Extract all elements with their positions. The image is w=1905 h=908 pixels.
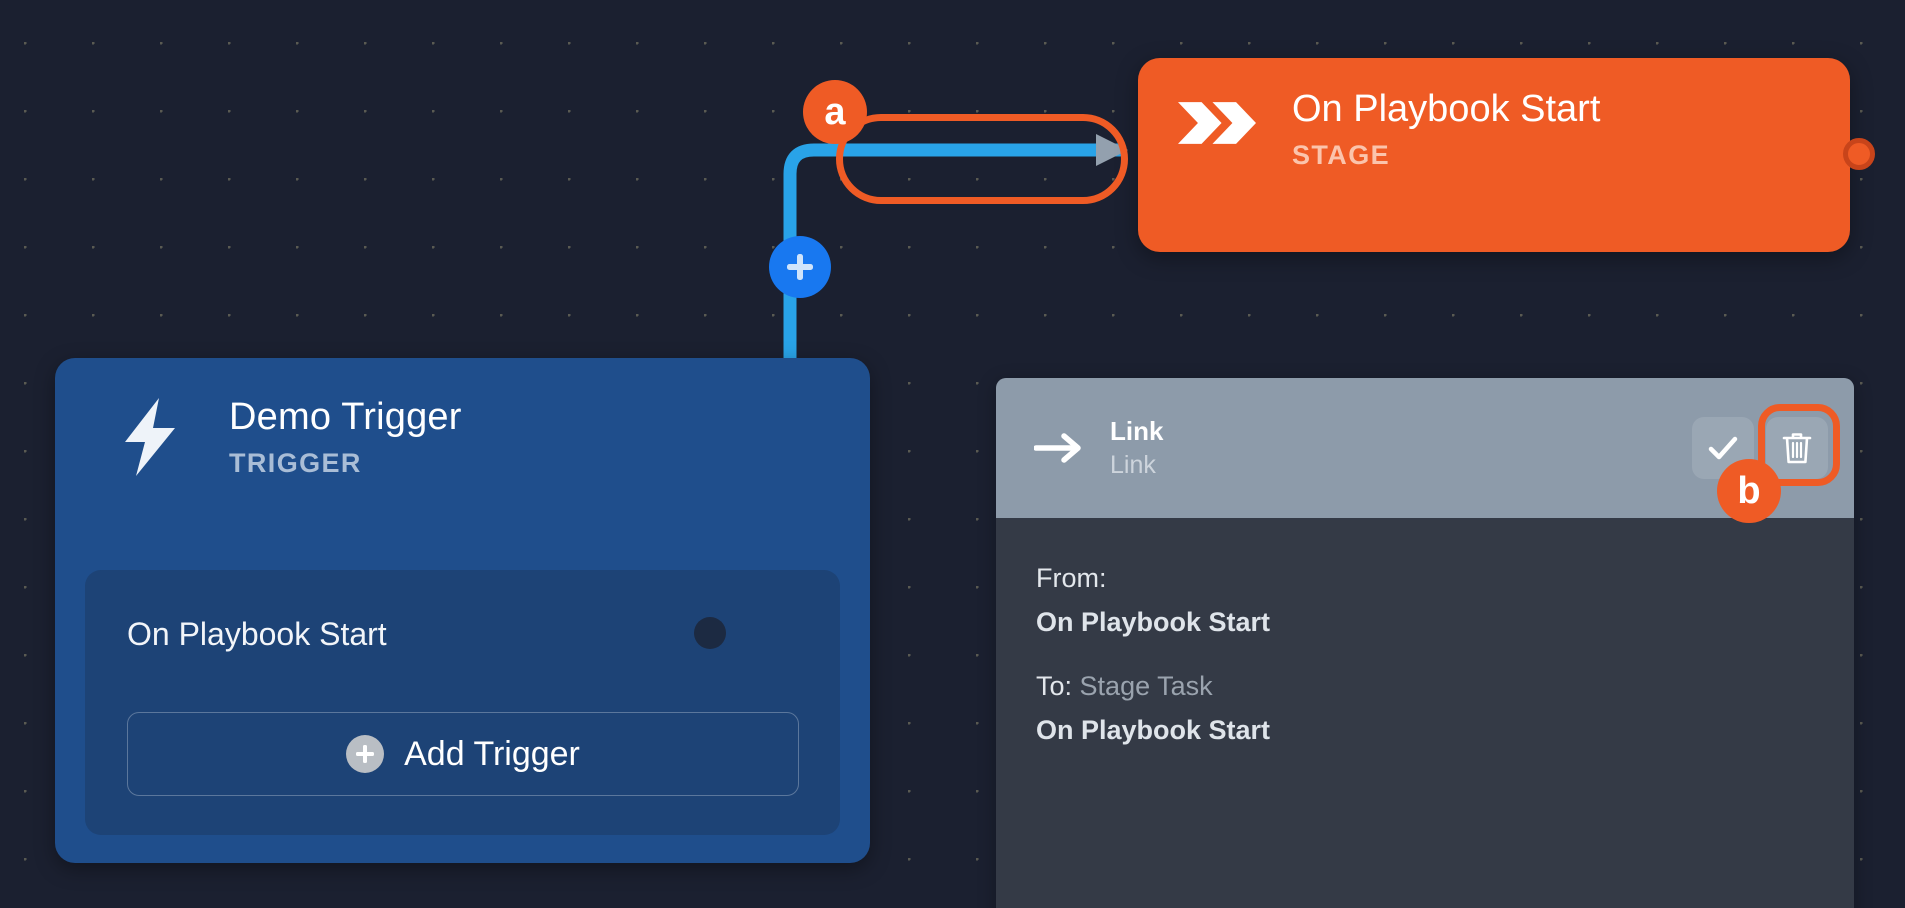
double-chevron-right-icon — [1178, 84, 1256, 162]
workflow-canvas[interactable]: a Demo Trigger TRIGGER On Playbook Start — [0, 0, 1905, 908]
trigger-item-on-playbook-start[interactable]: On Playbook Start — [127, 614, 387, 654]
stage-node[interactable]: On Playbook Start STAGE — [1138, 58, 1850, 252]
link-to-label: To: — [1036, 671, 1072, 701]
trigger-node[interactable]: Demo Trigger TRIGGER On Playbook Start A… — [55, 358, 870, 863]
trigger-output-handle[interactable] — [694, 617, 726, 649]
plus-circle-icon — [346, 735, 384, 773]
add-trigger-button[interactable]: Add Trigger — [127, 712, 799, 796]
trigger-items-panel: On Playbook Start Add Trigger — [85, 570, 840, 835]
add-trigger-label: Add Trigger — [404, 734, 580, 774]
link-panel-subtitle: Link — [1110, 449, 1680, 481]
check-icon — [1706, 431, 1740, 465]
stage-node-header: On Playbook Start STAGE — [1138, 58, 1850, 252]
annotation-marker-a: a — [803, 80, 867, 144]
annotation-highlight-a — [836, 114, 1128, 204]
link-to-value: On Playbook Start — [1036, 712, 1814, 748]
annotation-b-label: b — [1737, 472, 1760, 510]
link-from-group: From: On Playbook Start — [1036, 560, 1814, 640]
link-to-line: To: Stage Task — [1036, 668, 1814, 704]
lightning-bolt-icon — [111, 398, 189, 476]
annotation-a-label: a — [824, 93, 845, 131]
add-node-on-edge-button[interactable] — [769, 236, 831, 298]
annotation-marker-b: b — [1717, 459, 1781, 523]
link-detail-panel[interactable]: Link Link From: On Playbook Star — [996, 378, 1854, 908]
link-from-value: On Playbook Start — [1036, 604, 1814, 640]
link-from-label: From: — [1036, 560, 1814, 596]
link-to-group: To: Stage Task On Playbook Start — [1036, 668, 1814, 748]
stage-output-handle[interactable] — [1843, 138, 1875, 170]
arrow-right-icon — [1034, 431, 1088, 465]
link-to-type: Stage Task — [1080, 671, 1213, 701]
link-panel-body: From: On Playbook Start To: Stage Task O… — [996, 518, 1854, 748]
link-panel-title: Link — [1110, 415, 1680, 447]
stage-node-title: On Playbook Start — [1292, 84, 1600, 134]
trigger-node-title: Demo Trigger — [229, 394, 462, 440]
plus-icon — [783, 250, 817, 284]
trigger-node-header: Demo Trigger TRIGGER — [55, 358, 870, 482]
trigger-node-subtitle: TRIGGER — [229, 446, 462, 480]
stage-node-subtitle: STAGE — [1292, 138, 1600, 172]
